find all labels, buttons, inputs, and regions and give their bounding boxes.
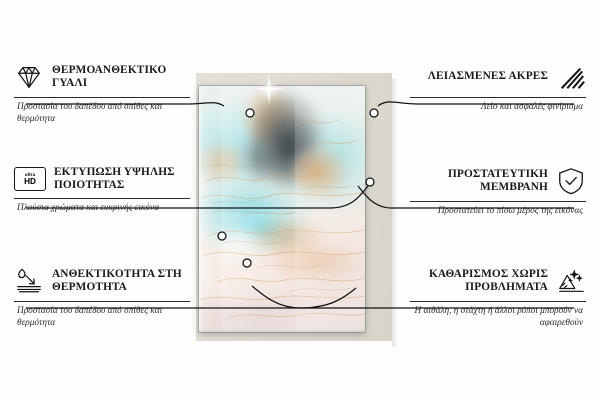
feature-subtitle: Προστατεύει το πίσω μέρος της εικόνας [410,206,586,218]
feature-header: ΛΕΙΑΣΜΕΝΕΣ ΑΚΡΕΣ [410,62,586,92]
feature-subtitle: Πλούσια χρώματα και ευκρινής εικόνα [14,203,190,215]
diamond-icon [14,62,44,92]
divider [14,198,190,199]
feature-subtitle: Προστασία του δαπέδου από σπίθες και θερ… [14,102,190,125]
polished-edges-icon [556,62,586,92]
shield-check-icon [556,166,586,196]
divider [410,301,586,302]
feature-title: ΘΕΡΜΟΑΝΘΕΚΤΙΚΟ ΓΥΑΛΙ [52,64,190,91]
feature-title: ΕΚΤΥΠΩΣΗ ΥΨΗΛΗΣ ΠΟΙΟΤΗΤΑΣ [54,166,190,193]
feature-heat-resistance[interactable]: ΑΝΘΕΚΤΙΚΟΤΗΤΑ ΣΤΗ ΘΕΡΜΟΤΗΤΑ Προστασία το… [14,266,190,329]
feature-subtitle: Προστασία του δαπέδου από σπίθες και θερ… [14,306,190,329]
infographic-stage: ΘΕΡΜΟΑΝΘΕΚΤΙΚΟ ΓΥΑΛΙ Προστασία του δαπέδ… [0,0,600,400]
feature-header: ΚΑΘΑΡΙΣΜΟΣ ΧΩΡΙΣ ΠΡΟΒΛΗΜΑΤΑ [410,266,586,296]
feature-header: ΠΡΟΣΤΑΤΕΥΤΙΚΗ ΜΕΜΒΡΑΝΗ [410,166,586,196]
feature-easy-cleaning[interactable]: ΚΑΘΑΡΙΣΜΟΣ ΧΩΡΙΣ ΠΡΟΒΛΗΜΑΤΑ Η αιθάλη, η … [410,266,586,329]
sparkle-clean-icon [556,266,586,296]
divider [410,201,586,202]
divider [14,301,190,302]
feature-heat-resistant-glass[interactable]: ΘΕΡΜΟΑΝΘΕΚΤΙΚΟ ΓΥΑΛΙ Προστασία του δαπέδ… [14,62,190,125]
feature-title: ΑΝΘΕΚΤΙΚΟΤΗΤΑ ΣΤΗ ΘΕΡΜΟΤΗΤΑ [52,268,190,295]
divider [14,97,190,98]
divider [410,97,586,98]
ultra-hd-large-label: HD [24,178,36,186]
feature-header: ΑΝΘΕΚΤΙΚΟΤΗΤΑ ΣΤΗ ΘΕΡΜΟΤΗΤΑ [14,266,190,296]
feature-header: ΘΕΡΜΟΑΝΘΕΚΤΙΚΟ ΓΥΑΛΙ [14,62,190,92]
feature-protective-membrane[interactable]: ΠΡΟΣΤΑΤΕΥΤΙΚΗ ΜΕΜΒΡΑΝΗ Προστατεύει το πί… [410,166,586,218]
feature-high-quality-print[interactable]: ultra HD ΕΚΤΥΠΩΣΗ ΥΨΗΛΗΣ ΠΟΙΟΤΗΤΑΣ Πλούσ… [14,166,190,214]
feature-header: ultra HD ΕΚΤΥΠΩΣΗ ΥΨΗΛΗΣ ΠΟΙΟΤΗΤΑΣ [14,166,190,193]
feature-subtitle: Λείο και ασφαλές φινίρισμα [410,102,586,114]
feature-subtitle: Η αιθάλη, η στάχτη ή άλλοι ρύποι μπορούν… [410,306,586,329]
feature-title: ΛΕΙΑΣΜΕΝΕΣ ΑΚΡΕΣ [428,70,548,83]
flame-heat-resistance-icon [14,266,44,296]
feature-title: ΠΡΟΣΤΑΤΕΥΤΙΚΗ ΜΕΜΒΡΑΝΗ [410,168,548,195]
ultra-hd-icon: ultra HD [14,167,46,191]
feature-polished-edges[interactable]: ΛΕΙΑΣΜΕΝΕΣ ΑΚΡΕΣ Λείο και ασφαλές φινίρι… [410,62,586,114]
feature-title: ΚΑΘΑΡΙΣΜΟΣ ΧΩΡΙΣ ΠΡΟΒΛΗΜΑΤΑ [410,268,548,295]
